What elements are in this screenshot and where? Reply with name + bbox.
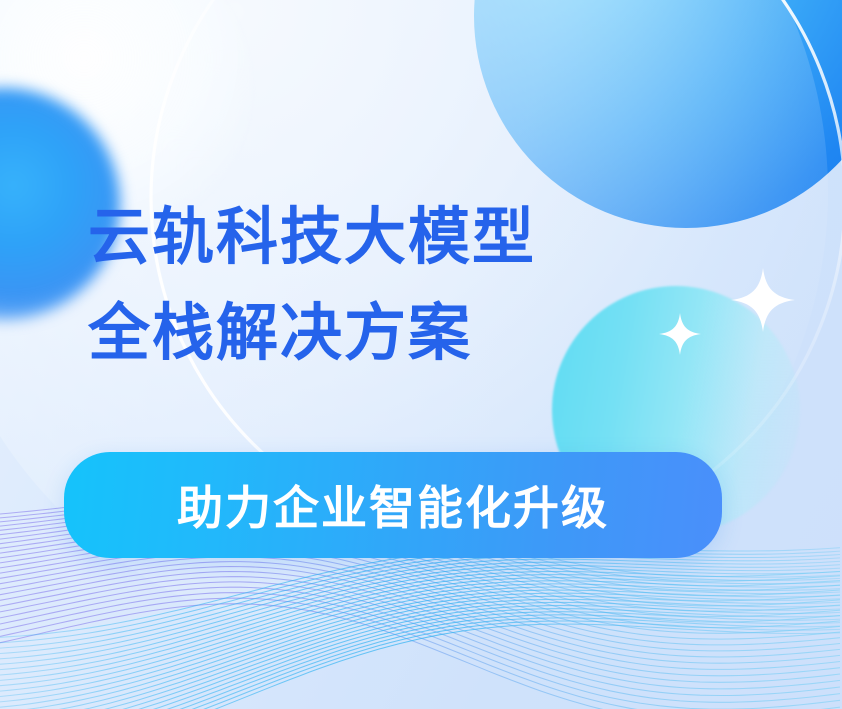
banner-content: 云轨科技大模型 全栈解决方案 助力企业智能化升级 [0,0,842,709]
headline-line-2: 全栈解决方案 [88,286,728,382]
headline-block: 云轨科技大模型 全栈解决方案 [88,190,728,382]
promo-banner: 云轨科技大模型 全栈解决方案 助力企业智能化升级 [0,0,842,709]
cta-pill-label: 助力企业智能化升级 [177,472,609,538]
headline-line-1: 云轨科技大模型 [88,190,728,286]
cta-pill-button[interactable]: 助力企业智能化升级 [64,452,722,558]
